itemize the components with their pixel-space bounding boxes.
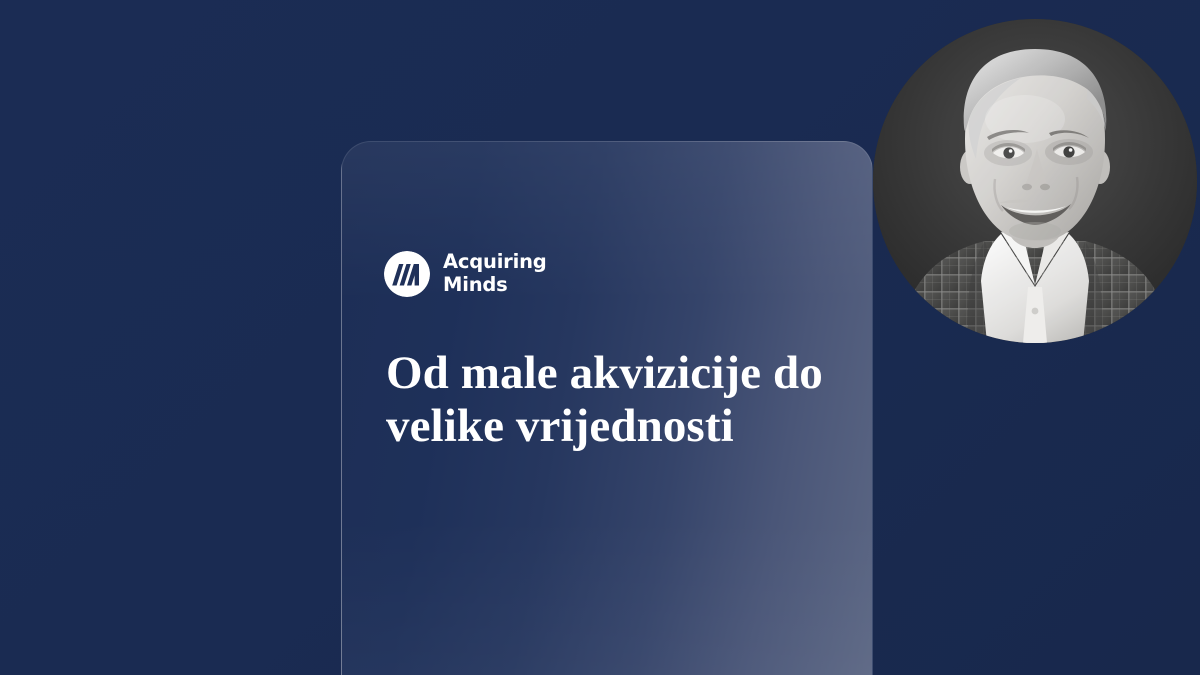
card-headline: Od male akvizicije do velike vrijednosti — [386, 347, 836, 452]
quote-card: Acquiring Minds Od male akvizicije do ve… — [341, 141, 873, 675]
promo-graphic: Acquiring Minds Od male akvizicije do ve… — [0, 0, 1200, 675]
brand-lockup: Acquiring Minds — [384, 251, 547, 297]
acquiring-minds-logo-icon — [384, 251, 430, 297]
guest-portrait — [873, 19, 1197, 343]
brand-name: Acquiring Minds — [443, 251, 547, 297]
